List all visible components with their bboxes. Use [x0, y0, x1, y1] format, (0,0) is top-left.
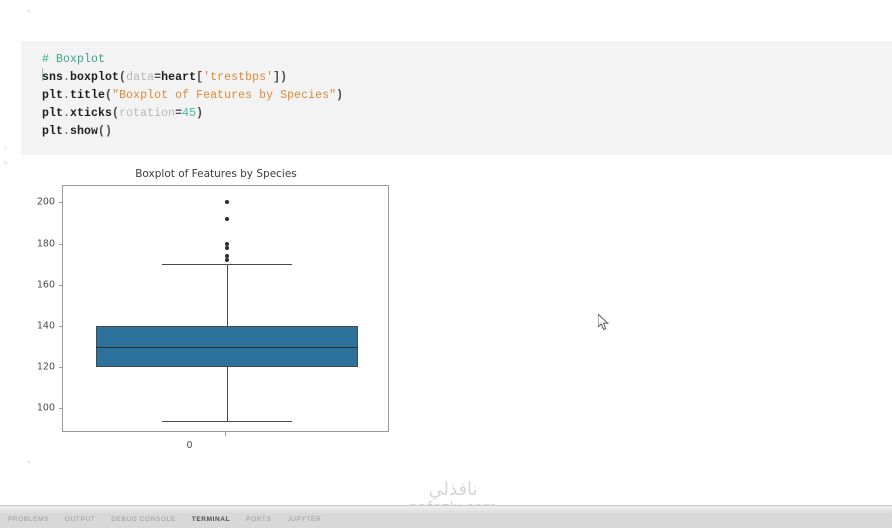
- code-token: # Boxplot: [42, 53, 105, 66]
- code-token: title: [70, 89, 105, 102]
- code-line-5[interactable]: plt.show(): [42, 123, 343, 141]
- chart-axes: 100120140160180200: [62, 185, 389, 432]
- code-token: "Boxplot of Features by Species": [112, 89, 336, 102]
- panel-bar-shade: [0, 506, 892, 513]
- code-token: (: [119, 71, 126, 84]
- panel-tab-problems[interactable]: PROBLEMS: [0, 516, 57, 523]
- code-token: sns: [42, 71, 63, 84]
- code-token: show: [70, 125, 98, 138]
- chart-title: Boxplot of Features by Species: [26, 168, 406, 180]
- gutter-marker-run[interactable]: +: [3, 145, 8, 154]
- y-axis-tick-mark: [59, 326, 63, 327]
- code-token: .: [63, 107, 70, 120]
- y-axis-tick-label: 120: [25, 362, 55, 373]
- panel-tab-output[interactable]: OUTPUT: [57, 516, 103, 523]
- code-token: plt: [42, 125, 63, 138]
- y-axis-tick-label: 200: [25, 197, 55, 208]
- y-axis-tick-mark: [59, 367, 63, 368]
- y-axis-tick-label: 180: [25, 238, 55, 249]
- code-line-1[interactable]: # Boxplot: [42, 51, 343, 69]
- y-axis-tick-mark: [59, 408, 63, 409]
- x-axis-tick-label: 0: [26, 440, 353, 451]
- matplotlib-figure: Boxplot of Features by Species 100120140…: [26, 162, 406, 452]
- panel-tab-terminal[interactable]: TERMINAL: [184, 516, 238, 523]
- code-token: .: [63, 71, 70, 84]
- code-token: 'trestbps': [203, 71, 273, 84]
- y-axis-tick-mark: [59, 202, 63, 203]
- code-token: ): [336, 89, 343, 102]
- code-token: plt: [42, 107, 63, 120]
- code-token: (: [105, 89, 112, 102]
- y-axis-tick-mark: [59, 285, 63, 286]
- panel-tab-debug-console[interactable]: DEBUG CONSOLE: [103, 516, 184, 523]
- x-axis-tick-mark: [225, 432, 226, 436]
- watermark-arabic-text: نافذلي: [388, 480, 518, 500]
- y-axis-tick-mark: [59, 244, 63, 245]
- code-token: ): [196, 107, 203, 120]
- boxplot-outlier-point: [225, 200, 229, 204]
- y-axis-tick-label: 140: [25, 320, 55, 331]
- y-axis-tick-label: 100: [25, 403, 55, 414]
- code-line-4[interactable]: plt.xticks(rotation=45): [42, 105, 343, 123]
- code-token: (): [98, 125, 112, 138]
- gutter-marker-collapse[interactable]: ◂: [3, 158, 7, 168]
- code-token: .: [63, 89, 70, 102]
- boxplot-outlier-point: [225, 246, 229, 250]
- code-token: .: [63, 125, 70, 138]
- code-token: xticks: [70, 107, 112, 120]
- code-token: ]): [273, 71, 287, 84]
- boxplot-median-line: [96, 347, 358, 348]
- code-line-3[interactable]: plt.title("Boxplot of Features by Specie…: [42, 87, 343, 105]
- gutter-marker-top: ◂: [26, 6, 30, 16]
- code-cell[interactable]: # Boxplotsns.boxplot(data=heart['trestbp…: [21, 41, 892, 155]
- panel-tab-ports[interactable]: PORTS: [238, 516, 279, 523]
- code-cell-accent-bar: [21, 41, 23, 155]
- code-editor-lines[interactable]: # Boxplotsns.boxplot(data=heart['trestbp…: [42, 51, 343, 141]
- code-token: boxplot: [70, 71, 119, 84]
- code-token: rotation: [119, 107, 175, 120]
- boxplot-whisker-cap-lower: [162, 421, 292, 422]
- code-line-2[interactable]: sns.boxplot(data=heart['trestbps']): [42, 69, 343, 87]
- code-token: (: [112, 107, 119, 120]
- code-token: heart: [161, 71, 196, 84]
- panel-tab-bar: PROBLEMSOUTPUTDEBUG CONSOLETERMINALPORTS…: [0, 505, 892, 528]
- boxplot-whisker-cap-upper: [162, 264, 292, 265]
- y-axis-tick-label: 160: [25, 279, 55, 290]
- code-token: data: [126, 71, 154, 84]
- code-token: 45: [182, 107, 196, 120]
- code-token: plt: [42, 89, 63, 102]
- boxplot-outlier-point: [225, 258, 229, 262]
- boxplot-outlier-point: [225, 217, 229, 221]
- cell-output-area: Boxplot of Features by Species 100120140…: [21, 160, 892, 460]
- panel-tab-jupyter[interactable]: JUPYTER: [279, 516, 329, 523]
- notebook-surface: ◂ + ◂ ◂ # Boxplotsns.boxplot(data=heart[…: [0, 0, 892, 505]
